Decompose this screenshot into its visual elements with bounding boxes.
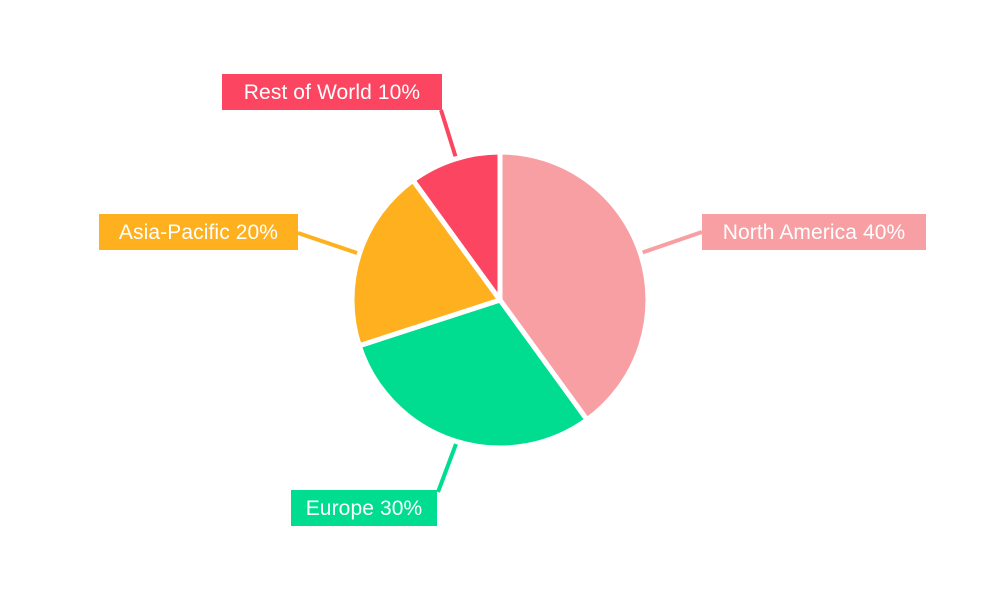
leader-line-rest-of-world	[441, 110, 456, 158]
pie-label-north-america: North America 40%	[702, 214, 926, 250]
pie-label-asia-pacific: Asia-Pacific 20%	[99, 214, 298, 250]
pie-label-europe: Europe 30%	[291, 490, 437, 526]
leader-line-asia-pacific	[298, 233, 360, 254]
pie-chart-canvas	[0, 0, 1000, 600]
pie-label-rest-of-world: Rest of World 10%	[222, 74, 442, 110]
leader-line-europe	[438, 444, 456, 492]
pie-slice-group	[352, 152, 648, 448]
leader-line-north-america	[641, 232, 702, 253]
pie-chart-figure: North America 40% Europe 30% Asia-Pacifi…	[0, 0, 1000, 600]
